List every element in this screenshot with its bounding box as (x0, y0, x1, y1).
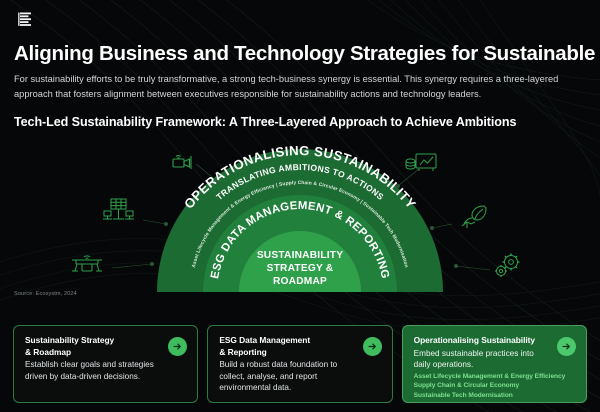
framework-title: Tech-Led Sustainability Framework: A Thr… (14, 115, 516, 129)
svg-text:STRATEGY &: STRATEGY & (267, 263, 334, 274)
slide-root: Aligning Business and Technology Strateg… (0, 0, 600, 412)
card-description: Build a robust data foundation to collec… (219, 359, 353, 394)
card-description: Embed sustainable practices into daily o… (414, 348, 536, 371)
card-title: Sustainability Strategy & Roadmap (25, 335, 153, 358)
source-caption: Source: Ecosystm, 2024 (14, 291, 77, 297)
card-operationalising-sustainability[interactable]: Operationalising Sustainability Embed su… (402, 325, 587, 403)
card-bullet: Supply Chain & Circular Economy (414, 381, 576, 391)
card-bullet: Sustainable Tech Modernisation (414, 391, 576, 401)
card-sustainability-strategy[interactable]: Sustainability Strategy & Roadmap Establ… (13, 325, 198, 403)
svg-text:SUSTAINABILITY: SUSTAINABILITY (257, 250, 343, 261)
card-description: Establish clear goals and strategies dri… (25, 359, 159, 382)
card-title: Operationalising Sustainability (414, 335, 542, 347)
sustainability-framework-diagram: OPERATIONALISING SUSTAINABILITY TRANSLAT… (0, 128, 600, 296)
arrow-right-icon[interactable] (557, 337, 576, 356)
ecosystm-bars-logo[interactable] (18, 9, 38, 29)
card-bullets: Asset Lifecycle Management & Energy Effi… (414, 372, 576, 401)
page-title: Aligning Business and Technology Strateg… (14, 42, 600, 66)
card-esg-data-management[interactable]: ESG Data Management & Reporting Build a … (207, 325, 392, 403)
card-title: ESG Data Management & Reporting (219, 335, 347, 358)
arrow-right-icon[interactable] (168, 337, 187, 356)
page-subtitle: For sustainability efforts to be truly t… (14, 72, 589, 102)
framework-cards: Sustainability Strategy & Roadmap Establ… (13, 325, 587, 403)
svg-text:ROADMAP: ROADMAP (273, 276, 327, 287)
card-bullet: Asset Lifecycle Management & Energy Effi… (414, 372, 576, 382)
arrow-right-icon[interactable] (363, 337, 382, 356)
